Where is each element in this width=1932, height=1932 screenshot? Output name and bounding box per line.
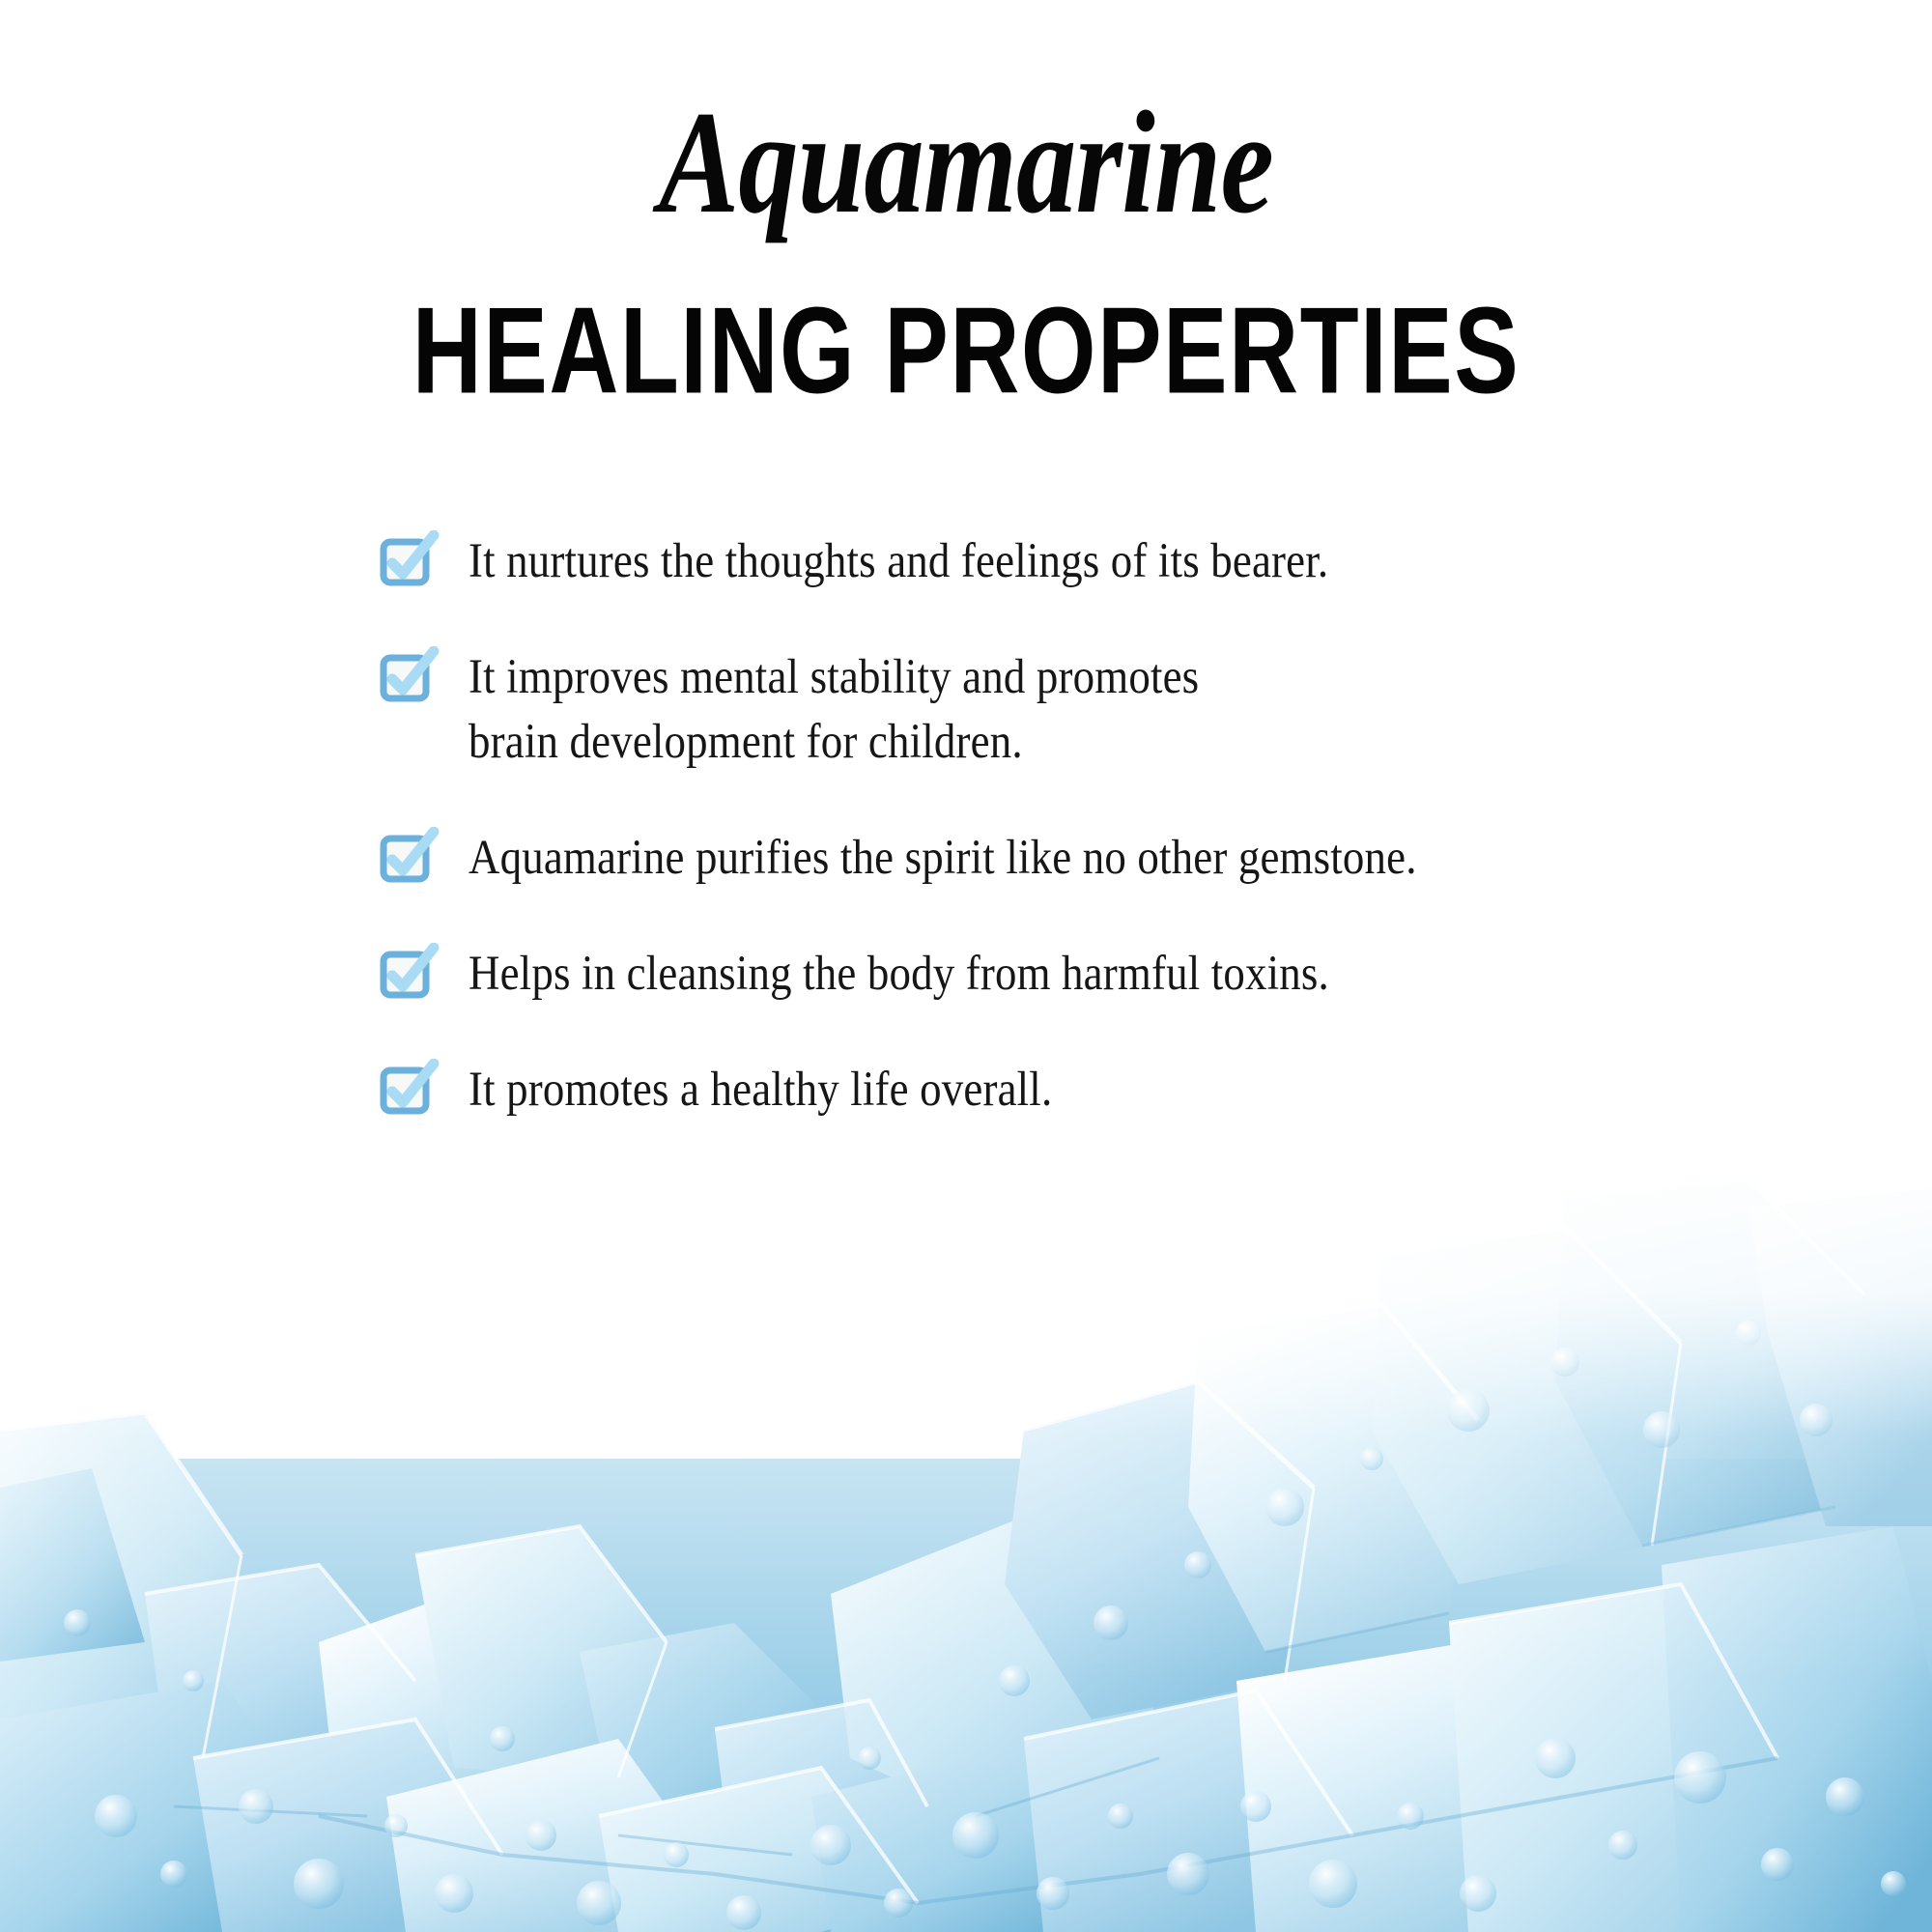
- list-item: Aquamarine purifies the spirit like no o…: [382, 826, 1792, 890]
- poster-canvas: Aquamarine HEALING PROPERTIES It nurture…: [0, 0, 1932, 1932]
- list-item: It nurtures the thoughts and feelings of…: [382, 529, 1792, 593]
- ice-cubes-photo: [0, 1140, 1932, 1932]
- list-item-label: It promotes a healthy life overall.: [469, 1058, 1052, 1122]
- list-item: It promotes a healthy life overall.: [382, 1058, 1792, 1122]
- healing-properties-list: It nurtures the thoughts and feelings of…: [382, 529, 1792, 1169]
- list-item: It improves mental stability and promote…: [382, 645, 1792, 774]
- poster-header: Aquamarine HEALING PROPERTIES: [0, 0, 1932, 381]
- checkbox-checked-icon[interactable]: [382, 535, 432, 585]
- checkbox-checked-icon[interactable]: [382, 651, 432, 701]
- list-item-label: Helps in cleansing the body from harmful…: [469, 942, 1329, 1006]
- page-title: Aquamarine: [174, 89, 1758, 236]
- checkbox-checked-icon[interactable]: [382, 1064, 432, 1114]
- page-subtitle: HEALING PROPERTIES: [39, 236, 1893, 412]
- list-item: Helps in cleansing the body from harmful…: [382, 942, 1792, 1006]
- list-item-label: It nurtures the thoughts and feelings of…: [469, 529, 1328, 593]
- checkbox-checked-icon[interactable]: [382, 832, 432, 882]
- list-item-label: It improves mental stability and promote…: [469, 645, 1199, 774]
- checkbox-checked-icon[interactable]: [382, 948, 432, 998]
- list-item-label: Aquamarine purifies the spirit like no o…: [469, 826, 1417, 890]
